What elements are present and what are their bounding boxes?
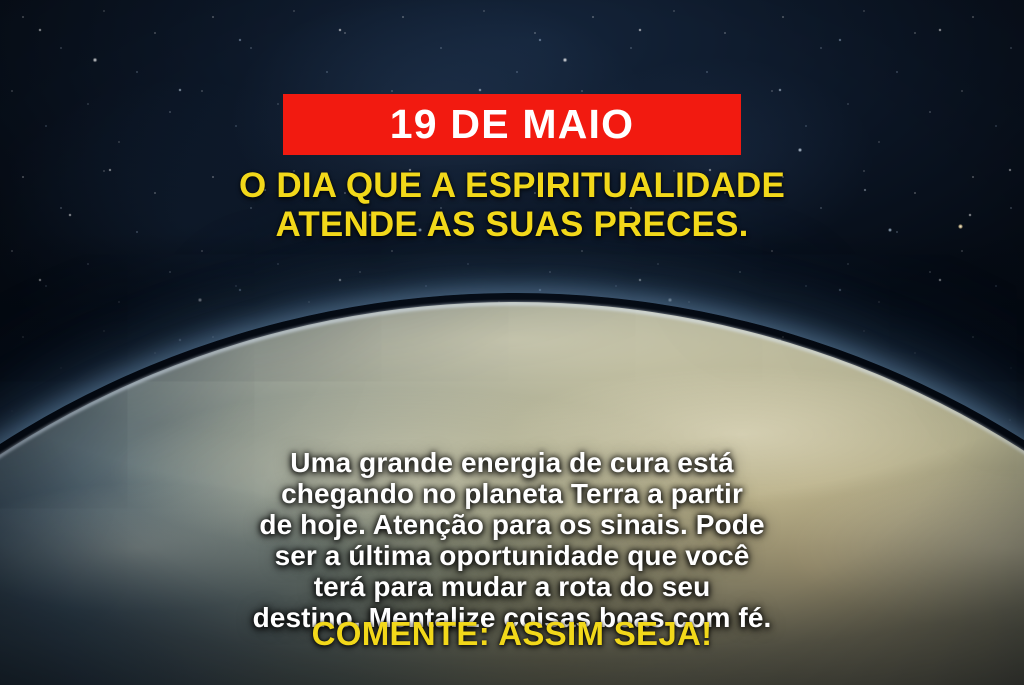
body-line-5: terá para mudar a rota do seu [58,571,966,602]
body-line-1: Uma grande energia de cura está [58,447,966,478]
date-banner: 19 DE MAIO [283,94,741,155]
body-line-4: ser a última oportunidade que você [58,540,966,571]
body-paragraph: Uma grande energia de cura está chegando… [0,447,1024,633]
headline-line-1: O DIA QUE A ESPIRITUALIDADE [52,166,972,205]
call-to-action-text: COMENTE: ASSIM SEJA! [0,615,1024,652]
body-line-2: chegando no planeta Terra a partir [58,478,966,509]
poster-canvas: 19 DE MAIO O DIA QUE A ESPIRITUALIDADE A… [0,0,1024,685]
headline-line-2: ATENDE AS SUAS PRECES. [52,205,972,244]
headline: O DIA QUE A ESPIRITUALIDADE ATENDE AS SU… [0,166,1024,244]
body-line-3: de hoje. Atenção para os sinais. Pode [58,509,966,540]
date-banner-label: 19 DE MAIO [390,104,634,145]
content-layer: 19 DE MAIO O DIA QUE A ESPIRITUALIDADE A… [0,0,1024,685]
